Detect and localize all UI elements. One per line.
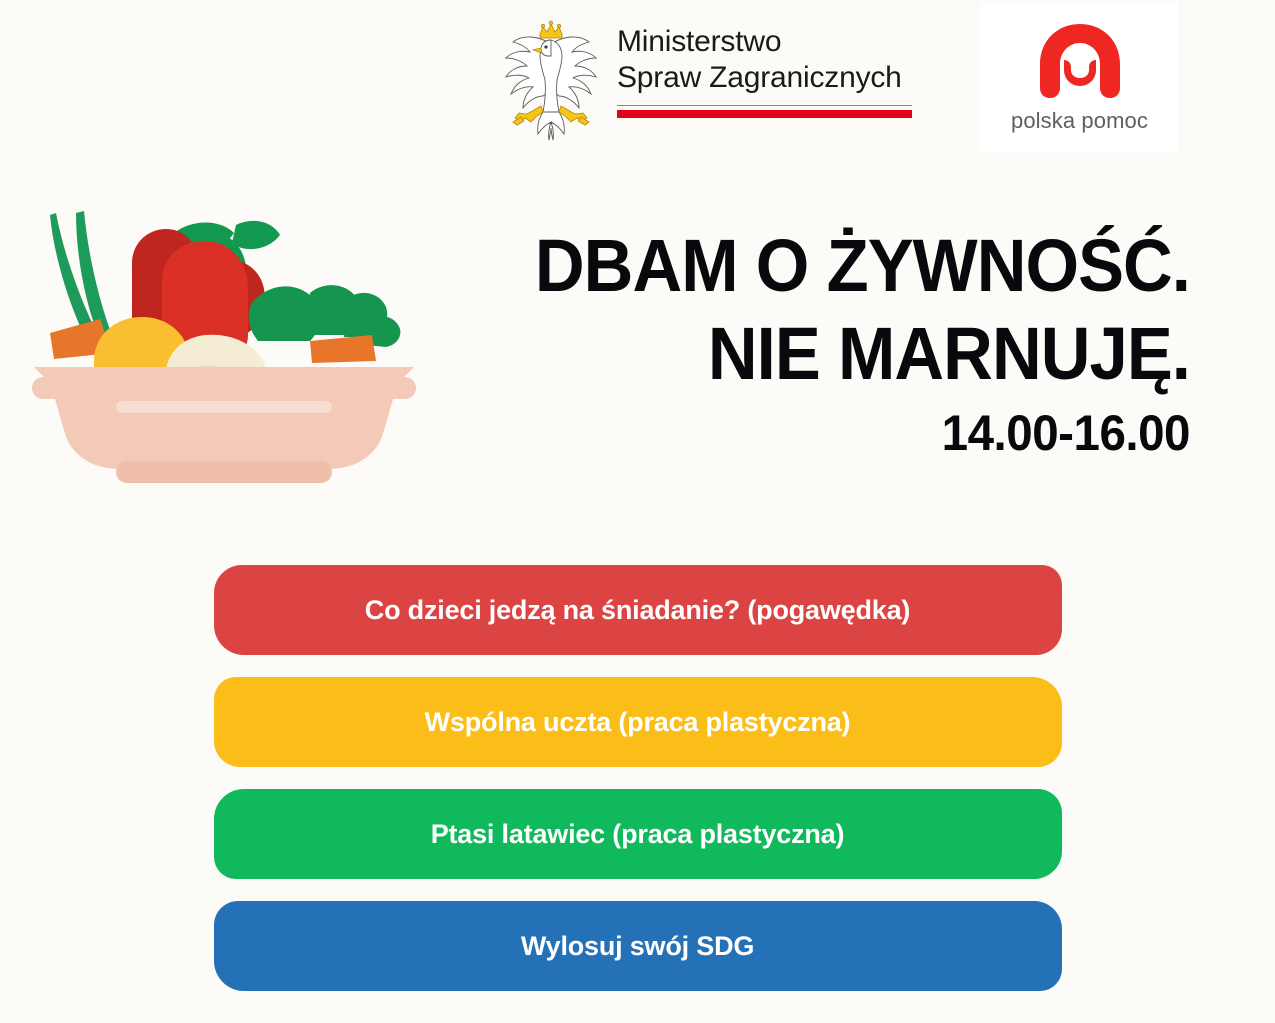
poster-root: Ministerstwo Spraw Zagranicznych polska … <box>0 0 1275 1023</box>
activity-shared-feast[interactable]: Wspólna uczta (praca plastyczna) <box>214 677 1062 767</box>
activity-draw-sdg[interactable]: Wylosuj swój SDG <box>214 901 1062 991</box>
bowl-base <box>116 461 332 483</box>
headline-time: 14.00-16.00 <box>468 402 1190 464</box>
headline-block: DBAM O ŻYWNOŚĆ. NIE MARNUJĘ. 14.00-16.00 <box>430 222 1190 464</box>
headline-line-2: NIE MARNUJĘ. <box>483 310 1190 398</box>
polska-pomoc-arch-icon <box>1034 20 1126 106</box>
bowl-handle-left <box>32 377 66 399</box>
header-logos: Ministerstwo Spraw Zagranicznych polska … <box>0 0 1275 160</box>
polish-eagle-emblem-icon <box>497 18 605 144</box>
activity-breakfast-chat[interactable]: Co dzieci jedzą na śniadanie? (pogawędka… <box>214 565 1062 655</box>
green-broccoli-right <box>249 285 401 347</box>
polska-pomoc-caption: polska pomoc <box>1011 108 1148 134</box>
bowl-stripe <box>116 401 332 413</box>
activity-list: Co dzieci jedzą na śniadanie? (pogawędka… <box>0 565 1275 991</box>
ministry-line-1: Ministerstwo <box>617 24 917 60</box>
activity-shared-feast-label: Wspólna uczta (praca plastyczna) <box>401 707 875 738</box>
ministry-wordmark: Ministerstwo Spraw Zagranicznych <box>617 18 917 118</box>
headline-line-1: DBAM O ŻYWNOŚĆ. <box>483 222 1190 310</box>
polska-pomoc-logo: polska pomoc <box>981 2 1178 152</box>
activity-draw-sdg-label: Wylosuj swój SDG <box>497 931 778 962</box>
carrot-right <box>310 335 376 363</box>
activity-breakfast-chat-label: Co dzieci jedzą na śniadanie? (pogawędka… <box>341 595 934 626</box>
ministry-rule-red <box>617 110 912 118</box>
ministry-line-2: Spraw Zagranicznych <box>617 60 917 96</box>
ministry-rule-grey <box>617 105 912 106</box>
activity-bird-kite[interactable]: Ptasi latawiec (praca plastyczna) <box>214 789 1062 879</box>
bowl-handle-right <box>382 377 416 399</box>
ministry-logo: Ministerstwo Spraw Zagranicznych <box>497 18 917 146</box>
bowl <box>32 367 416 483</box>
bowl-of-vegetables-illustration <box>24 185 424 485</box>
activity-bird-kite-label: Ptasi latawiec (praca plastyczna) <box>407 819 869 850</box>
